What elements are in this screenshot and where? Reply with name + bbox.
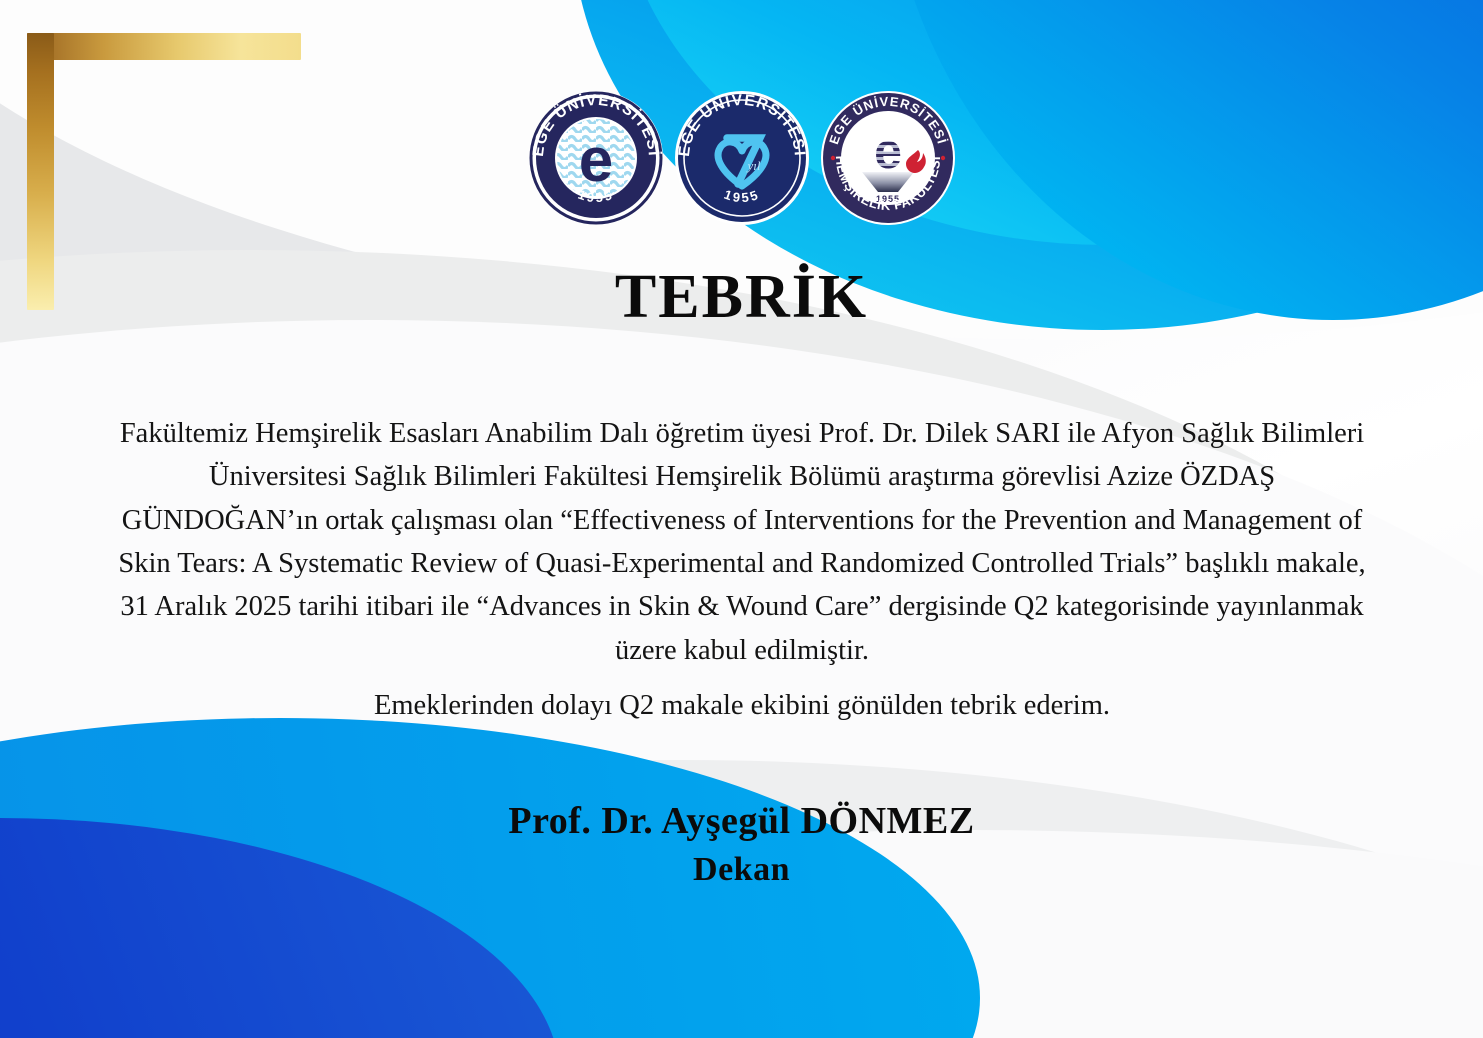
logo-row: EGE ÜNİVERSİTESİ 1955 e	[0, 88, 1483, 228]
body-paragraph: Fakültemiz Hemşirelik Esasları Anabilim …	[108, 412, 1376, 672]
signature-role: Dekan	[0, 848, 1483, 892]
svg-text:yıl: yıl	[745, 158, 760, 173]
signature-block: Prof. Dr. Ayşegül DÖNMEZ Dekan	[0, 798, 1483, 892]
svg-text:e: e	[874, 123, 902, 179]
page-title: TEBRİK	[0, 265, 1483, 330]
hemsirelik-fakultesi-logo: e 1955 EGE ÜNİVERSİTESİ HEMŞİRELİK FAKÜL…	[818, 88, 958, 228]
svg-text:e: e	[578, 126, 612, 195]
ege-universitesi-70-yil-logo: yıl EGE ÜNİVERSİTESİ 1955	[672, 88, 812, 228]
signature-name: Prof. Dr. Ayşegül DÖNMEZ	[0, 798, 1483, 846]
closing-line: Emeklerinden dolayı Q2 makale ekibini gö…	[108, 684, 1376, 727]
certificate-canvas: EGE ÜNİVERSİTESİ 1955 e	[0, 0, 1483, 1038]
certificate-content: EGE ÜNİVERSİTESİ 1955 e	[0, 0, 1483, 1038]
ege-universitesi-logo: EGE ÜNİVERSİTESİ 1955 e	[526, 88, 666, 228]
